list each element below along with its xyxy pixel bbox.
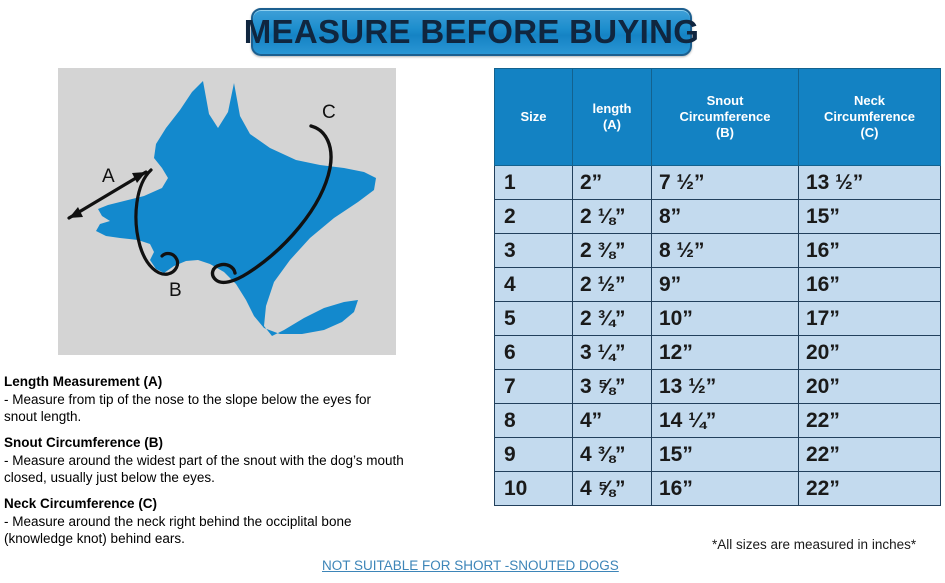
cell-length: 4 ⅜”: [573, 438, 652, 472]
label-c: C: [322, 102, 336, 123]
instruction-body-snout: - Measure around the widest part of the …: [4, 452, 494, 487]
table-row: 42 ½”9”16”: [495, 268, 941, 302]
cell-snout: 15”: [652, 438, 799, 472]
cell-length: 2 ¾”: [573, 302, 652, 336]
cell-snout: 16”: [652, 472, 799, 506]
cell-length: 3 ¼”: [573, 336, 652, 370]
label-a: A: [102, 166, 115, 187]
dog-diagram-panel: A B C: [58, 68, 396, 355]
not-suitable-warning: NOT SUITABLE FOR SHORT -SNOUTED DOGS: [322, 558, 619, 573]
cell-neck: 22”: [799, 438, 941, 472]
instruction-block-neck: Neck Circumference (C) - Measure around …: [4, 496, 494, 548]
measurement-instructions: Length Measurement (A) - Measure from ti…: [4, 374, 494, 557]
table-row: 22 ⅛”8”15”: [495, 200, 941, 234]
cell-size: 4: [495, 268, 573, 302]
cell-size: 10: [495, 472, 573, 506]
cell-length: 2”: [573, 166, 652, 200]
instruction-body-length: - Measure from tip of the nose to the sl…: [4, 391, 494, 426]
column-header-neck: Neck Circumference (C): [799, 69, 941, 166]
cell-size: 9: [495, 438, 573, 472]
cell-length: 4 ⅝”: [573, 472, 652, 506]
cell-snout: 13 ½”: [652, 370, 799, 404]
instruction-title-neck: Neck Circumference (C): [4, 496, 494, 513]
cell-neck: 16”: [799, 234, 941, 268]
instruction-block-snout: Snout Circumference (B) - Measure around…: [4, 435, 494, 487]
table-row: 63 ¼”12”20”: [495, 336, 941, 370]
table-row: 104 ⅝”16”22”: [495, 472, 941, 506]
label-b: B: [169, 280, 182, 301]
column-header-snout: Snout Circumference (B): [652, 69, 799, 166]
title-banner: MEASURE BEFORE BUYING: [251, 8, 692, 56]
cell-neck: 17”: [799, 302, 941, 336]
cell-length: 3 ⅝”: [573, 370, 652, 404]
column-header-size: Size: [495, 69, 573, 166]
size-chart-table: Size length (A) Snout Circumference (B) …: [494, 68, 941, 506]
table-row: 52 ¾”10”17”: [495, 302, 941, 336]
instruction-body-neck: - Measure around the neck right behind t…: [4, 513, 494, 548]
cell-size: 8: [495, 404, 573, 438]
dog-head-illustration: A B C: [58, 68, 396, 355]
cell-size: 2: [495, 200, 573, 234]
cell-size: 3: [495, 234, 573, 268]
cell-size: 7: [495, 370, 573, 404]
cell-size: 1: [495, 166, 573, 200]
instruction-title-length: Length Measurement (A): [4, 374, 494, 391]
cell-neck: 22”: [799, 404, 941, 438]
cell-neck: 13 ½”: [799, 166, 941, 200]
cell-size: 5: [495, 302, 573, 336]
table-row: 94 ⅜”15”22”: [495, 438, 941, 472]
table-header-row: Size length (A) Snout Circumference (B) …: [495, 69, 941, 166]
page-title: MEASURE BEFORE BUYING: [244, 13, 700, 51]
table-row: 73 ⅝”13 ½”20”: [495, 370, 941, 404]
table-row: 84”14 ¼”22”: [495, 404, 941, 438]
cell-snout: 12”: [652, 336, 799, 370]
cell-neck: 16”: [799, 268, 941, 302]
column-header-length: length (A): [573, 69, 652, 166]
table-row: 32 ⅜”8 ½”16”: [495, 234, 941, 268]
cell-length: 2 ⅛”: [573, 200, 652, 234]
cell-snout: 7 ½”: [652, 166, 799, 200]
cell-snout: 9”: [652, 268, 799, 302]
units-note: *All sizes are measured in inches*: [712, 537, 916, 552]
cell-size: 6: [495, 336, 573, 370]
instruction-block-length: Length Measurement (A) - Measure from ti…: [4, 374, 494, 426]
cell-snout: 14 ¼”: [652, 404, 799, 438]
cell-neck: 15”: [799, 200, 941, 234]
instruction-title-snout: Snout Circumference (B): [4, 435, 494, 452]
cell-neck: 20”: [799, 336, 941, 370]
cell-snout: 10”: [652, 302, 799, 336]
cell-snout: 8 ½”: [652, 234, 799, 268]
cell-length: 2 ½”: [573, 268, 652, 302]
cell-neck: 22”: [799, 472, 941, 506]
cell-length: 4”: [573, 404, 652, 438]
cell-length: 2 ⅜”: [573, 234, 652, 268]
cell-neck: 20”: [799, 370, 941, 404]
table-row: 12”7 ½”13 ½”: [495, 166, 941, 200]
cell-snout: 8”: [652, 200, 799, 234]
